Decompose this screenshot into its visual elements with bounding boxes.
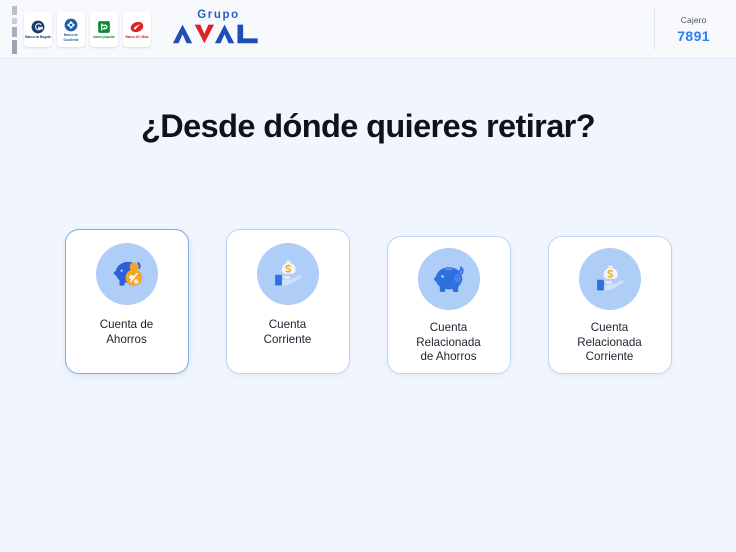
cajero-info: Cajero 7891 — [654, 8, 710, 50]
bank-tile-banco-bogota: Banco de Bogotá — [24, 12, 52, 47]
bank-tile-label: Banco de Occidente — [58, 33, 84, 41]
av-villas-swoosh-icon — [130, 20, 144, 34]
grupo-aval-logo: Grupo — [171, 10, 266, 48]
edge-tick — [12, 18, 17, 24]
account-card-label: Cuenta de Ahorros — [94, 318, 160, 347]
edge-marker-decoration — [11, 6, 17, 54]
account-card-label: Cuenta Relacionada Corriente — [571, 321, 647, 365]
edge-tick — [12, 27, 17, 37]
edge-tick — [12, 40, 17, 54]
hand-holding-money-bag-icon — [579, 248, 641, 310]
cajero-label: Cajero — [681, 15, 707, 25]
account-card-cuenta-de-ahorros[interactable]: Cuenta de Ahorros — [65, 229, 189, 374]
page-title: ¿Desde dónde quieres retirar? — [0, 108, 736, 145]
piggy-bank-with-coin-icon — [96, 243, 158, 305]
account-card-label: Cuenta Corriente — [258, 318, 318, 347]
account-card-cuenta-relacionada-de-ahorros[interactable]: Cuenta Relacionada de Ahorros — [387, 236, 511, 374]
app-header: Banco de Bogotá Banco de Occidente — [0, 0, 736, 59]
banco-occidente-diamond-icon — [64, 18, 78, 32]
bank-tile-label: Banco AV Villas — [125, 35, 148, 39]
bank-tile-banco-occidente: Banco de Occidente — [57, 12, 85, 47]
bank-tile-label: Banco de Bogotá — [25, 35, 50, 39]
cajero-number: 7891 — [677, 28, 710, 44]
bank-tile-av-villas: Banco AV Villas — [123, 12, 151, 47]
grupo-aval-wordmark-grupo: Grupo — [197, 10, 240, 22]
banco-bogota-globe-icon — [31, 20, 45, 34]
account-card-label: Cuenta Relacionada de Ahorros — [410, 321, 486, 365]
piggy-bank-icon — [418, 248, 480, 310]
hand-holding-money-bag-icon — [257, 243, 319, 305]
account-options-row: Cuenta de Ahorros Cuenta Corriente — [0, 229, 736, 374]
atm-screen: Banco de Bogotá Banco de Occidente — [0, 0, 736, 552]
edge-tick — [12, 6, 17, 15]
bank-tile-label: banco popular — [93, 35, 114, 39]
grupo-aval-wordmark-aval — [171, 23, 266, 48]
bank-tile-banco-popular: banco popular — [90, 12, 118, 47]
bank-logo-group: Banco de Bogotá Banco de Occidente — [24, 12, 151, 47]
banco-popular-arrow-icon — [97, 20, 111, 34]
account-card-cuenta-relacionada-corriente[interactable]: Cuenta Relacionada Corriente — [548, 236, 672, 374]
account-card-cuenta-corriente[interactable]: Cuenta Corriente — [226, 229, 350, 374]
